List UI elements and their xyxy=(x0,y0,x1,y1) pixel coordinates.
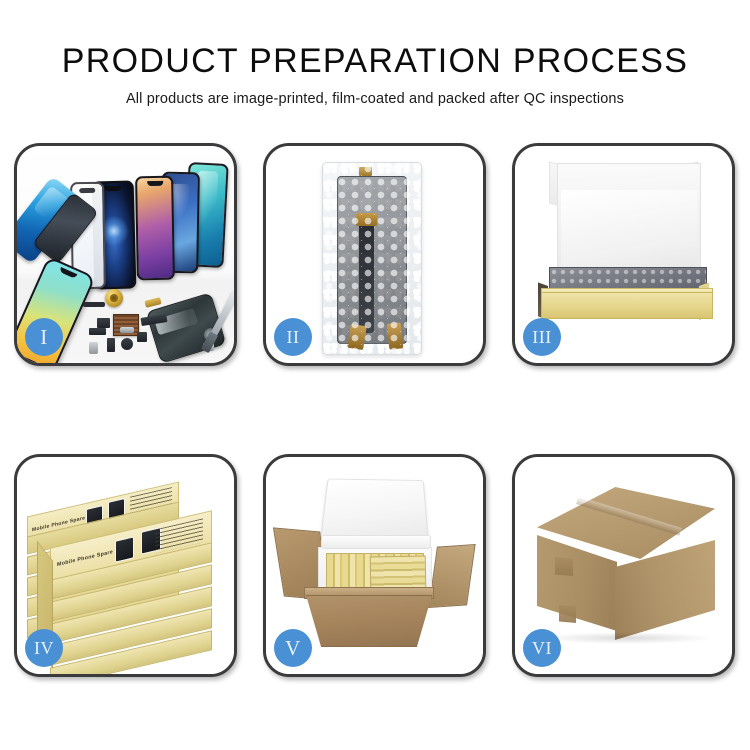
foam-padding-icon xyxy=(561,190,697,272)
spare-part-speaker-icon xyxy=(121,338,133,350)
spare-part-camera-module-icon xyxy=(137,332,147,342)
gold-coil-part-icon xyxy=(105,289,123,307)
spare-part-flex-cable-icon xyxy=(107,338,115,352)
process-step-panel-3: III xyxy=(512,143,735,366)
header: PRODUCT PREPARATION PROCESS All products… xyxy=(0,0,750,108)
spare-part-ribbon-icon xyxy=(89,328,106,335)
step-badge-2: II xyxy=(274,318,312,356)
page-title: PRODUCT PREPARATION PROCESS xyxy=(0,41,750,81)
inner-box-front-panel-icon xyxy=(541,292,713,319)
phone-purple-icon xyxy=(135,176,175,281)
carton-tape-lower-icon xyxy=(559,605,576,623)
page-subtitle: All products are image-printed, film-coa… xyxy=(0,90,750,108)
bubble-sheen-overlay xyxy=(323,163,421,354)
carton-tape-upper-icon xyxy=(555,557,573,576)
product-preparation-process-page: PRODUCT PREPARATION PROCESS All products… xyxy=(0,0,750,750)
inner-yellow-boxes-row-b-icon xyxy=(370,556,427,590)
carton-ground-shadow xyxy=(539,632,715,644)
foam-box-lid-icon xyxy=(320,479,429,542)
spare-part-shield-plate-icon xyxy=(120,327,134,333)
spare-part-metal-bracket-icon xyxy=(89,342,98,354)
spare-part-connector-icon xyxy=(97,318,110,328)
process-step-panel-1: I xyxy=(14,143,237,366)
carton-body-icon xyxy=(306,595,432,647)
foam-box-rim-icon xyxy=(321,535,431,549)
bubble-wrap-bag-icon xyxy=(322,162,422,355)
process-step-panel-6: VI xyxy=(512,454,735,677)
process-step-grid: I II xyxy=(14,143,736,677)
spare-part-strip-icon xyxy=(83,302,105,307)
process-step-panel-4: Mobile Phone Spare Parts Mobile Phone Sp… xyxy=(14,454,237,677)
label-phone-thumb-c-icon xyxy=(115,536,134,562)
process-step-panel-5: V xyxy=(263,454,486,677)
step-badge-6: VI xyxy=(523,629,561,667)
step-badge-4: IV xyxy=(25,629,63,667)
step-badge-1: I xyxy=(25,318,63,356)
step-badge-5: V xyxy=(274,629,312,667)
step-badge-3: III xyxy=(523,318,561,356)
process-step-panel-2: II xyxy=(263,143,486,366)
